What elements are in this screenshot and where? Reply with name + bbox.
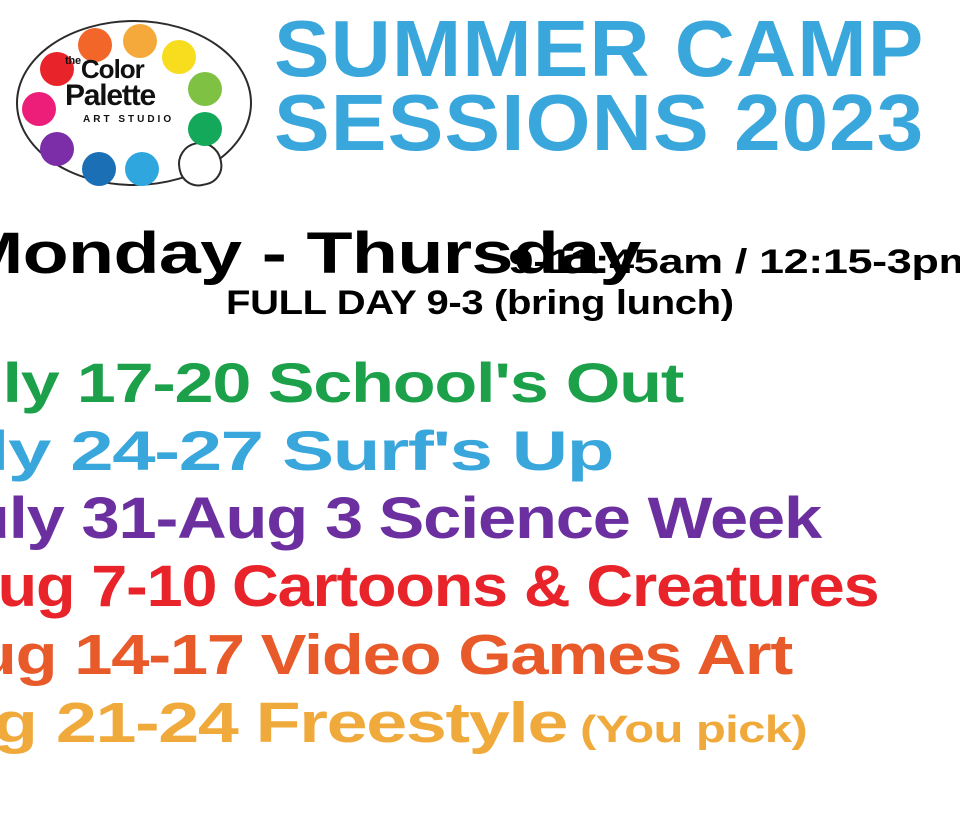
logo-the-text: the bbox=[65, 55, 81, 67]
session-dates: July 31-Aug 3 bbox=[0, 486, 362, 551]
flyer-title: SUMMER CAMP SESSIONS 2023 bbox=[260, 8, 960, 161]
summer-camp-flyer: theColor Palette ART STUDIO SUMMER CAMP … bbox=[0, 0, 960, 836]
session-theme: Video Games Art bbox=[261, 623, 792, 687]
session-list: July 17-20School's OutJuly 24-27Surf's U… bbox=[0, 349, 960, 764]
dot-sky bbox=[125, 152, 159, 186]
session-dates: Aug 21-24 bbox=[0, 691, 238, 755]
session-dates: July 17-20 bbox=[0, 351, 250, 414]
color-palette-logo: theColor Palette ART STUDIO bbox=[10, 14, 260, 194]
session-row: July 31-Aug 3Science Week bbox=[0, 485, 821, 553]
schedule-times: 9-11:45am / 12:15-3pm bbox=[509, 242, 960, 282]
dot-magenta bbox=[22, 92, 56, 126]
session-theme: Science Week bbox=[379, 486, 821, 551]
session-row: Aug 21-24Freestyle (You pick) bbox=[0, 689, 807, 764]
session-dates: Aug 7-10 bbox=[0, 554, 216, 619]
session-row: July 17-20School's Out bbox=[0, 349, 683, 417]
logo-wordmark: theColor Palette ART STUDIO bbox=[65, 56, 215, 125]
session-row: Aug 14-17Video Games Art bbox=[0, 621, 792, 689]
session-dates: July 24-27 bbox=[0, 419, 263, 482]
session-row: Aug 7-10Cartoons & Creatures bbox=[0, 553, 878, 621]
logo-palette-text: Palette bbox=[65, 81, 215, 111]
session-theme: Surf's Up bbox=[282, 419, 613, 482]
dot-blue bbox=[82, 152, 116, 186]
flyer-header: theColor Palette ART STUDIO SUMMER CAMP … bbox=[0, 0, 960, 208]
schedule-full-day: FULL DAY 9-3 (bring lunch) bbox=[226, 283, 734, 323]
title-line-sessions-year: SESSIONS 2023 bbox=[274, 86, 924, 160]
logo-art-studio-text: ART STUDIO bbox=[83, 115, 215, 125]
session-theme: Freestyle bbox=[256, 691, 568, 755]
session-theme: School's Out bbox=[268, 351, 683, 414]
dot-amber bbox=[123, 24, 157, 58]
session-theme: Cartoons & Creatures bbox=[232, 554, 879, 619]
session-note: (You pick) bbox=[567, 709, 807, 751]
session-row: July 24-27Surf's Up bbox=[0, 417, 613, 485]
schedule-block: Monday - Thursday 9-11:45am / 12:15-3pm … bbox=[0, 224, 960, 323]
dot-purple bbox=[40, 132, 74, 166]
session-dates: Aug 14-17 bbox=[0, 623, 244, 687]
title-line-summer-camp: SUMMER CAMP bbox=[274, 12, 924, 86]
